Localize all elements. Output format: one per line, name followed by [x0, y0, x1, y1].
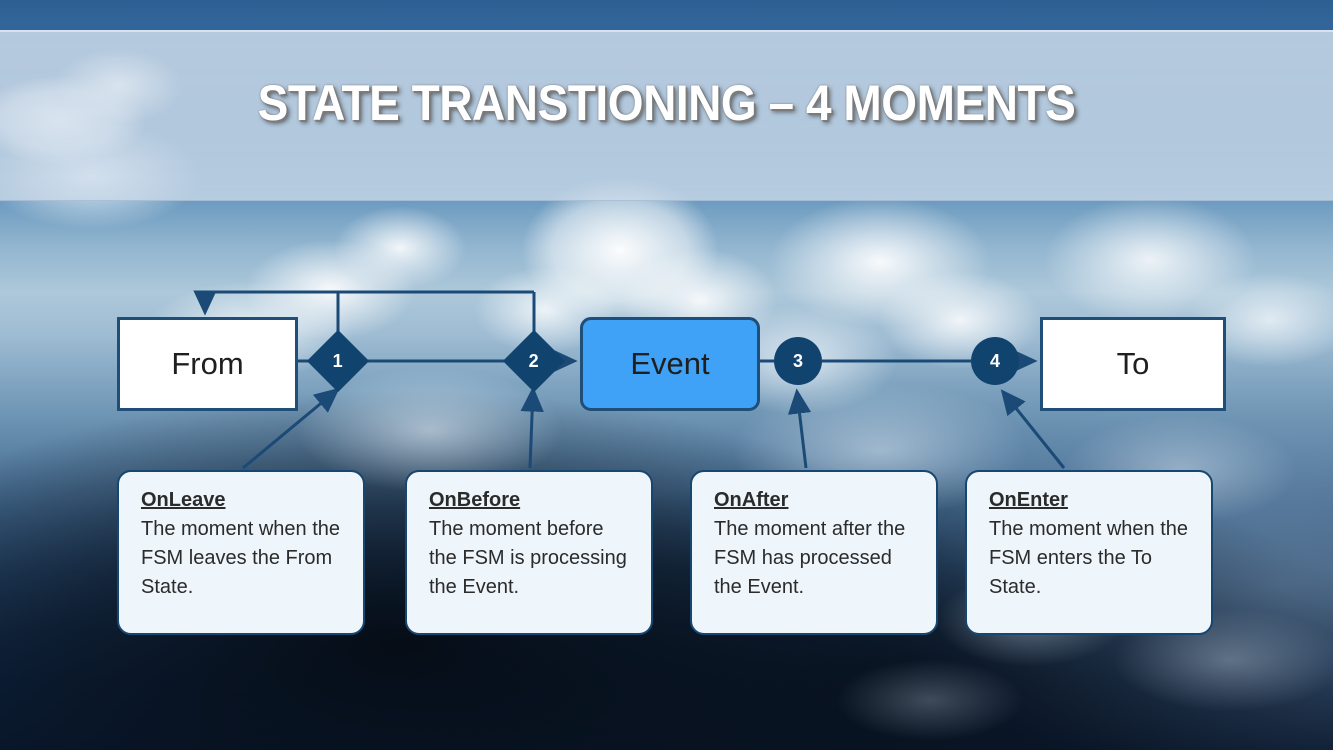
callout-onenter-title: OnEnter — [989, 486, 1195, 515]
node-event-label: Event — [630, 346, 709, 382]
callout-onafter: OnAfter The moment after the FSM has pro… — [690, 470, 938, 635]
leader-onafter-to-m3 — [797, 392, 806, 468]
node-to-state[interactable]: To — [1040, 317, 1226, 411]
callout-onbefore-body: The moment before the FSM is processing … — [429, 518, 627, 598]
slide: STATE TRANSTIONING – 4 MOMENTS — [0, 0, 1333, 750]
marker-3-circle[interactable]: 3 — [774, 337, 822, 385]
marker-3-label: 3 — [793, 351, 803, 372]
node-from-state[interactable]: From — [117, 317, 298, 411]
marker-2-label: 2 — [529, 350, 539, 371]
callout-onbefore: OnBefore The moment before the FSM is pr… — [405, 470, 653, 635]
callout-onleave: OnLeave The moment when the FSM leaves t… — [117, 470, 365, 635]
marker-4-circle[interactable]: 4 — [971, 337, 1019, 385]
node-event[interactable]: Event — [580, 317, 760, 411]
loopback-arrow-to-from — [205, 292, 534, 312]
node-to-label: To — [1117, 346, 1150, 382]
leader-onbefore-to-m2 — [530, 390, 533, 468]
callout-onafter-title: OnAfter — [714, 486, 920, 515]
marker-1-label: 1 — [333, 350, 343, 371]
callout-onleave-body: The moment when the FSM leaves the From … — [141, 518, 340, 598]
callout-onafter-body: The moment after the FSM has processed t… — [714, 518, 905, 598]
node-from-label: From — [171, 346, 243, 382]
callout-onenter: OnEnter The moment when the FSM enters t… — [965, 470, 1213, 635]
callout-onbefore-title: OnBefore — [429, 486, 635, 515]
callout-onenter-body: The moment when the FSM enters the To St… — [989, 518, 1188, 598]
callout-onleave-title: OnLeave — [141, 486, 347, 515]
marker-4-label: 4 — [990, 351, 1000, 372]
loopback-rail-from-1 — [338, 292, 534, 341]
